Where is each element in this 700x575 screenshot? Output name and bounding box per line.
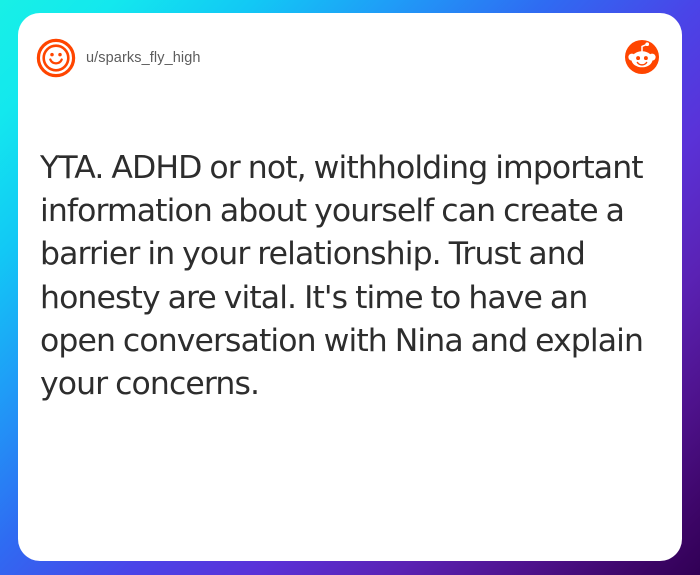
reddit-snoo-logo-icon xyxy=(622,37,662,77)
reddit-post-card: u/sparks_fly_high xyxy=(18,13,682,561)
card-header: u/sparks_fly_high xyxy=(18,13,682,105)
post-body-text: YTA. ADHD or not, withholding important … xyxy=(40,147,660,406)
gradient-background: u/sparks_fly_high xyxy=(0,0,700,575)
username-label[interactable]: u/sparks_fly_high xyxy=(86,45,201,71)
avatar[interactable] xyxy=(36,38,76,78)
